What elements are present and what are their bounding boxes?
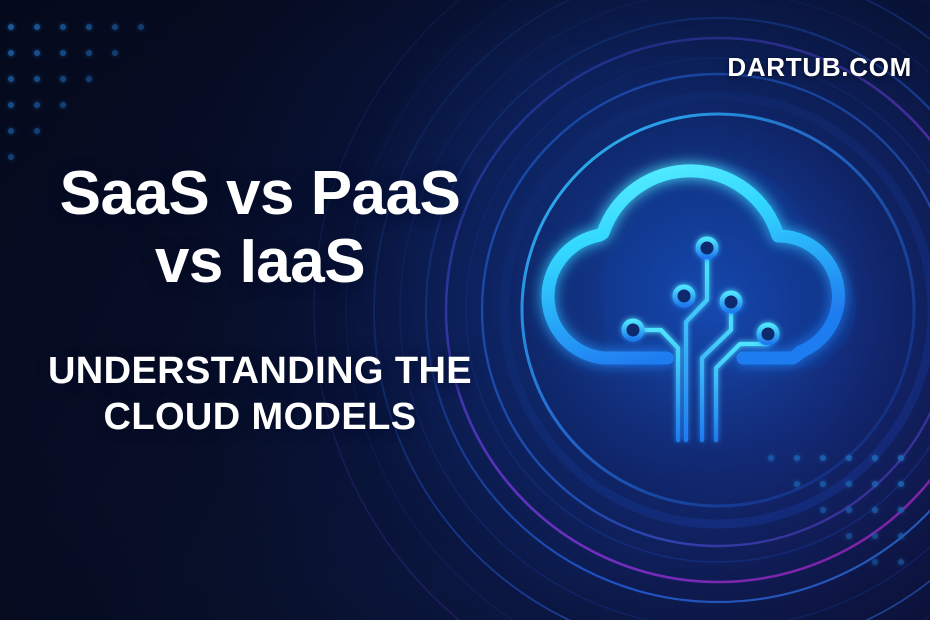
- headline-line-2: vs IaaS: [0, 228, 520, 296]
- watermark-brand: DARTUB.COM: [727, 52, 912, 83]
- cloud-models-banner: DARTUB.COM SaaS vs PaaS vs IaaS UNDERSTA…: [0, 0, 930, 620]
- vignette-overlay: [0, 0, 930, 620]
- page-subtitle: UNDERSTANDING THE CLOUD MODELS: [0, 348, 520, 441]
- subtitle-line-2: CLOUD MODELS: [0, 394, 520, 440]
- page-title: SaaS vs PaaS vs IaaS: [0, 160, 520, 296]
- subtitle-line-1: UNDERSTANDING THE: [0, 348, 520, 394]
- headline-line-1: SaaS vs PaaS: [0, 160, 520, 228]
